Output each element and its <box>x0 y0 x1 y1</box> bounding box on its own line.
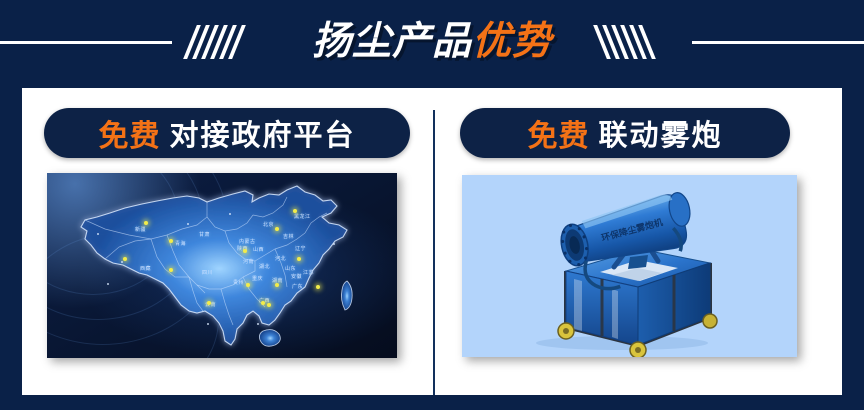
map-star <box>257 323 259 325</box>
badge-main-text: 联动雾炮 <box>598 112 722 154</box>
map-star <box>121 261 123 263</box>
thumbnail-fog-cannon[interactable]: 环保降尘雾炮机 <box>462 175 797 357</box>
map-label-province: 河北 <box>275 255 286 262</box>
map-dot <box>169 268 173 272</box>
card-government-platform: 免费 对接政府平台 <box>22 88 432 395</box>
map-star <box>97 233 99 235</box>
map-dot <box>297 257 301 261</box>
map-label-province: 青海 <box>175 240 186 247</box>
map-label-province: 河南 <box>243 258 254 265</box>
map-star <box>229 213 231 215</box>
map-dot <box>144 221 148 225</box>
map-star <box>107 283 109 285</box>
footer-bar <box>0 395 864 410</box>
page-title: 扬尘产品优势 <box>0 10 864 74</box>
map-label-province: 新疆 <box>135 226 146 233</box>
badge-government-platform[interactable]: 免费 对接政府平台 <box>44 108 410 158</box>
map-label-province: 吉林 <box>283 233 294 240</box>
map-label-province: 山东 <box>285 265 296 272</box>
map-dot <box>123 257 127 261</box>
map-label-province: 重庆 <box>252 275 263 282</box>
map-label-province: 西藏 <box>140 265 151 272</box>
badge-accent-text: 免费 <box>98 111 160 155</box>
map-dot <box>246 283 250 287</box>
map-label-province: 安徽 <box>291 273 302 280</box>
badge-main-text: 对接政府平台 <box>169 112 355 154</box>
map-dot <box>261 301 265 305</box>
page-title-accent: 优势 <box>472 20 552 63</box>
map-label-province: 内蒙古 <box>239 238 256 245</box>
china-map-shape <box>47 173 397 358</box>
badge-accent-text: 免费 <box>527 111 589 155</box>
map-dot <box>275 227 279 231</box>
map-dot <box>316 285 320 289</box>
map-label-province: 江苏 <box>303 269 314 276</box>
badge-fog-cannon[interactable]: 免费 联动雾炮 <box>460 108 790 158</box>
map-label-province: 广东 <box>292 283 303 290</box>
section-header: 扬尘产品优势 <box>0 0 864 88</box>
page-title-main: 扬尘产品 <box>312 20 472 63</box>
map-dot <box>243 249 247 253</box>
map-label-province: 贵州 <box>233 279 244 286</box>
map-star <box>187 223 189 225</box>
map-dot <box>207 301 211 305</box>
map-star <box>333 243 335 245</box>
map-label-province: 黑龙江 <box>294 213 311 220</box>
map-star <box>207 323 209 325</box>
map-dot <box>293 209 297 213</box>
fog-cannon-illustration: 环保降尘雾炮机 <box>462 175 797 357</box>
page-root: 扬尘产品优势 免费 对接政府平台 <box>0 0 864 410</box>
map-label-province: 山西 <box>253 246 264 253</box>
thumbnail-china-map[interactable]: 新疆 青海 西藏 内蒙古 黑龙江 吉林 辽宁 北京 河北 山西 陕西 甘肃 四川… <box>47 173 397 358</box>
map-label-province: 湖北 <box>259 263 270 270</box>
map-dot <box>169 239 173 243</box>
card-fog-cannon: 免费 联动雾炮 <box>434 88 844 395</box>
map-label-province: 甘肃 <box>199 231 210 238</box>
map-label-province: 辽宁 <box>295 245 306 252</box>
map-label-province: 北京 <box>263 221 274 228</box>
map-dot <box>267 303 271 307</box>
map-dot <box>275 283 279 287</box>
map-label-province: 四川 <box>202 269 213 276</box>
